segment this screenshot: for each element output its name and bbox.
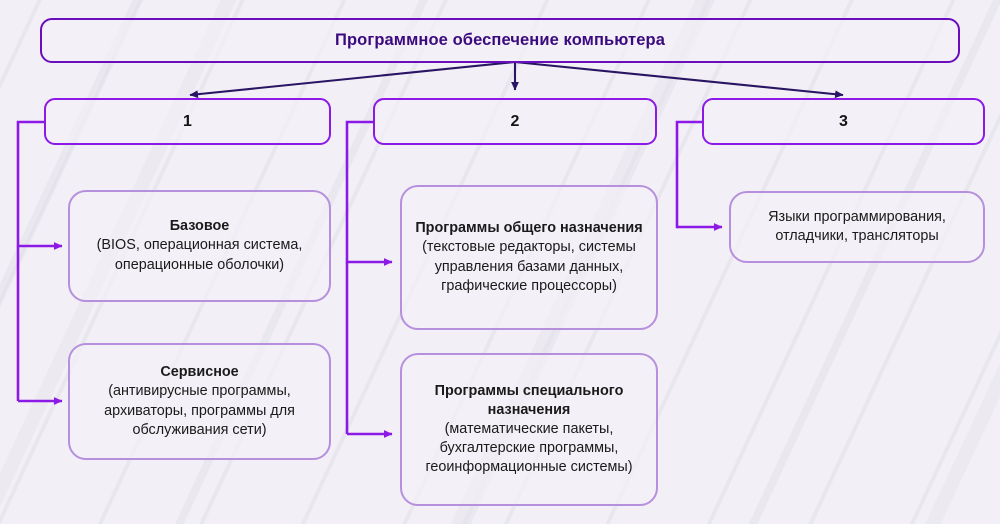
leaf-box-basic-software[interactable]: Базовое (BIOS, операционная система, опе… [68,190,331,302]
leaf-general-body: (текстовые редакторы, системы управления… [412,238,646,295]
leaf-box-programming-languages[interactable]: Языки программирования, отладчики, транс… [729,191,985,263]
leaf-service-body: (антивирусные программы, архиваторы, про… [80,382,319,439]
connector-one-to-leaves [18,122,62,401]
connector-two-to-leaves [347,122,392,434]
root-box-software[interactable]: Программное обеспечение компьютера [40,18,960,63]
leaf-box-service-software[interactable]: Сервисное (антивирусные программы, архив… [68,343,331,460]
leaf-general-content: Программы общего назначения (текстовые р… [412,219,646,296]
leaf-languages-content: Языки программирования, отладчики, транс… [741,208,973,246]
leaf-service-heading: Сервисное [80,363,319,382]
diagram-canvas: Программное обеспечение компьютера 1 2 3… [0,0,1000,524]
leaf-basic-body: (BIOS, операционная система, операционны… [80,236,319,274]
arrow-title-to-three [515,62,843,95]
leaf-basic-heading: Базовое [80,217,319,236]
category-box-3-label: 3 [839,113,848,131]
leaf-box-general-purpose[interactable]: Программы общего назначения (текстовые р… [400,185,658,330]
category-box-2[interactable]: 2 [373,98,657,145]
category-box-3[interactable]: 3 [702,98,985,145]
category-box-2-label: 2 [511,113,520,131]
leaf-special-body: (математические пакеты, бухгалтерские пр… [412,420,646,477]
leaf-basic-content: Базовое (BIOS, операционная система, опе… [80,217,319,274]
leaf-general-heading: Программы общего назначения [412,219,646,238]
root-box-label: Программное обеспечение компьютера [335,31,665,50]
category-box-1-label: 1 [183,113,192,131]
arrow-title-to-one [190,62,515,95]
leaf-special-content: Программы специального назначения (матем… [412,382,646,478]
leaf-special-heading: Программы специального назначения [412,382,646,420]
category-box-1[interactable]: 1 [44,98,331,145]
leaf-box-special-purpose[interactable]: Программы специального назначения (матем… [400,353,658,506]
leaf-service-content: Сервисное (антивирусные программы, архив… [80,363,319,440]
leaf-languages-body: Языки программирования, отладчики, транс… [741,208,973,246]
